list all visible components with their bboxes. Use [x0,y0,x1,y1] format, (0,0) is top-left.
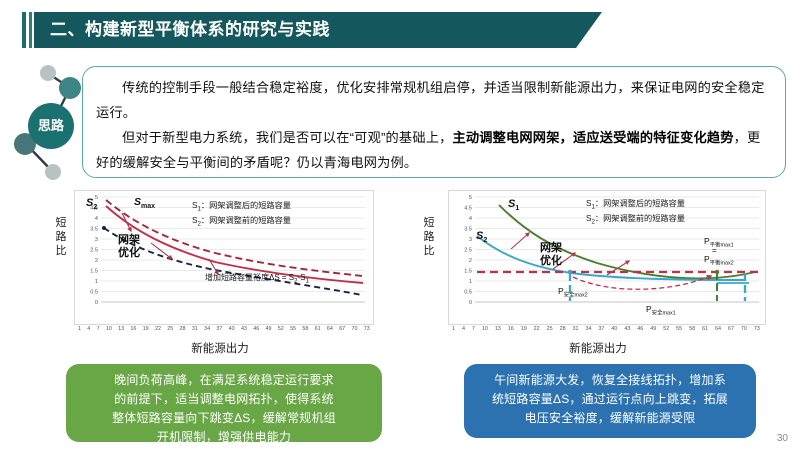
svg-text:4: 4 [469,216,472,222]
right-chart-legend: S1：网架调整后的短路容量 S2：网架调整前的短路容量 [586,198,685,227]
svg-text:1.5: 1.5 [90,269,98,275]
svg-text:4: 4 [95,216,98,222]
callout-blue-line-2: 统短路容量ΔS，通过运行点向上跳变，拓展 [474,390,746,409]
left-chart-legend: S1：网架调整后的短路容量 S2：网架调整前的短路容量 [192,200,291,229]
left-chart-ylabel: 短路比 [52,216,70,258]
slide-title-bar: 二、构建新型平衡体系的研究与实践 [22,12,602,48]
callout-green-line-3: 整体短路容量向下跳变ΔS，缓解常规机组 [76,409,372,428]
left-chart-legend-item-s1: S1：网架调整后的短路容量 [192,200,291,215]
svg-text:1: 1 [95,279,98,285]
right-chart-label-s1: S1 [508,198,519,212]
right-chart-annotation-grid-opt: 网架 优化 [540,242,562,268]
svg-text:2.5: 2.5 [464,248,472,254]
svg-text:0: 0 [469,300,472,306]
right-chart-ylabel: 短路比 [420,216,438,258]
callout-green-line-2: 的前提下，适当调整电网拓扑，使得系统 [76,390,372,409]
svg-text:2.5: 2.5 [90,248,98,254]
right-chart-legend-item-s1: S1：网架调整后的短路容量 [586,198,685,213]
right-chart: 短路比 5 4.5 [418,186,778,356]
right-chart-legend-item-s2: S2：网架调整前的短路容量 [586,213,685,228]
left-chart-label-smax: Smax [134,196,155,210]
right-chart-label-p-balance-max1: P平衡max1 [704,236,734,249]
badge-label: 思路 [28,103,74,149]
callout-green: 晚间负荷高峰，在满足系统稳定运行要求 的前提下，适当调整电网拓扑，使得系统 整体… [66,364,382,442]
page-title: 二、构建新型平衡体系的研究与实践 [50,12,330,48]
right-chart-label-p-safe-max2: P安全max2 [558,286,588,299]
left-chart-annotation-grid-opt: 网架 优化 [118,234,140,260]
right-chart-xticks: 147 101316 192225 283134 374043 464952 5… [452,326,760,332]
callout-blue-line-3: 电压安全裕度，缓解新能源受限 [474,409,746,428]
left-chart-xlabel: 新能源出力 [50,340,390,356]
svg-text:2: 2 [95,258,98,264]
left-chart-annotation-delta-s: 增加短路容量裕度ΔS = S2-S1 [205,272,309,285]
callout-blue-line-1: 午间新能源大发，恢复全接线拓扑，增加系 [474,371,746,390]
paragraph-2-emphasis: 主动调整电网网架，适应送受端的特征变化趋势 [452,130,733,145]
right-chart-xlabel: 新能源出力 [418,340,778,356]
left-chart-xticks: 147 101316 192225 283134 374043 464952 5… [78,326,370,332]
svg-text:2: 2 [469,258,472,264]
title-accent-stripe-inner [29,12,32,48]
svg-text:3: 3 [95,237,98,243]
svg-text:5: 5 [469,195,472,201]
svg-text:0: 0 [95,300,98,306]
svg-text:1.5: 1.5 [464,269,472,275]
svg-text:0.5: 0.5 [464,290,472,296]
callout-blue: 午间新能源大发，恢复全接线拓扑，增加系 统短路容量ΔS，通过运行点向上跳变，拓展… [464,364,756,438]
right-chart-label-s2: S2 [476,230,487,244]
paragraph-2: 但对于新型电力系统，我们是否可以在“可观”的基础上，主动调整电网网架，适应送受端… [96,125,772,175]
left-chart-label-s2: S2 [86,197,97,211]
right-chart-label-p-safe-max1: P安全max1 [646,304,676,317]
svg-text:4.5: 4.5 [464,206,472,212]
body-text-card: 传统的控制手段一般结合稳定裕度，优化安排常规机组启停，并适当限制新能源出力，来保… [82,66,786,178]
callout-green-line-4: 开机限制，增强供电能力 [76,428,372,447]
callout-green-line-1: 晚间负荷高峰，在满足系统稳定运行要求 [76,371,372,390]
paragraph-1: 传统的控制手段一般结合稳定裕度，优化安排常规机组启停，并适当限制新能源出力，来保… [96,75,772,125]
svg-text:0.5: 0.5 [90,290,98,296]
svg-text:3.5: 3.5 [90,227,98,233]
paragraph-2-lead: 但对于新型电力系统，我们是否可以在“可观”的基础上， [122,130,452,145]
title-accent-stripe-outer [22,12,26,48]
page-number: 30 [777,433,788,444]
left-chart: 短路比 5 [50,186,390,356]
right-chart-label-p-balance-max2: P平衡max2 [704,254,734,267]
svg-text:3: 3 [469,237,472,243]
svg-text:3.5: 3.5 [464,227,472,233]
slide-canvas: 二、构建新型平衡体系的研究与实践 思路 传统的控制手段一般结合稳定裕度，优化安排… [0,0,800,450]
left-chart-legend-item-s2: S2：网架调整前的短路容量 [192,215,291,230]
svg-text:1: 1 [469,279,472,285]
